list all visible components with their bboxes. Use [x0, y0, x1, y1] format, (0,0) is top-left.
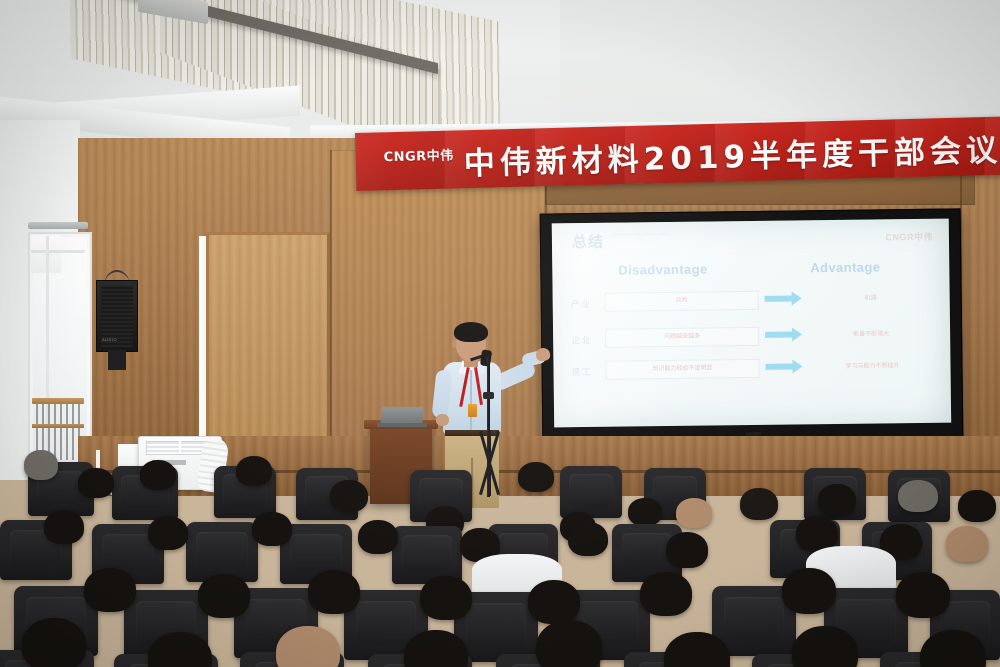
attendee-head: [628, 498, 662, 526]
attendee-head: [958, 490, 996, 522]
projection-screen: 总结 Summary of the half-year review CNGR中…: [540, 208, 964, 442]
slide-row-arrow-1: [765, 295, 793, 301]
attendee-head: [528, 580, 580, 624]
attendee-head: [568, 522, 608, 556]
seat: [392, 526, 462, 584]
attendee-head: [640, 572, 692, 616]
presenter-left-hand: [436, 414, 449, 426]
projection-screen-surface: 总结 Summary of the half-year review CNGR中…: [552, 219, 951, 428]
slide-title: 总结: [572, 231, 604, 252]
slide-row-disadvantage-2: 问题越来越多: [605, 327, 759, 348]
seat-cushion: [196, 532, 248, 569]
attendee-head: [198, 574, 250, 618]
screen-glare: [552, 219, 951, 428]
slide-row-label-1: 产业: [571, 297, 591, 310]
slide-row-disadvantage-3: 知识能力经验不足明显: [605, 359, 759, 380]
attendee-head: [358, 520, 398, 554]
attendee-head: [420, 576, 472, 620]
presenter-hair: [454, 322, 488, 342]
door-closer-arm: [28, 222, 88, 229]
attendee-head: [148, 516, 188, 550]
slide-row-arrow-2: [765, 331, 793, 337]
slide-row-label-3: 员工: [571, 365, 591, 378]
attendee-head: [44, 510, 84, 544]
seat-cushion: [402, 535, 452, 571]
seat-cushion: [622, 533, 672, 569]
attendee-head: [308, 570, 360, 614]
slide-row-advantage-2: 能量不断增大: [811, 328, 931, 338]
attendee-head: [140, 460, 176, 490]
attendee-head: [536, 620, 602, 667]
slide-row-label-2: 企业: [571, 333, 591, 346]
seat: [560, 466, 622, 518]
attendee-head: [24, 450, 58, 480]
slide-row-advantage-3: 学习与能力不断提升: [807, 360, 937, 371]
wall-mounted-speaker: AUDIO: [96, 280, 138, 352]
speaker-bracket: [108, 350, 126, 370]
banner-logo: CNGR中伟: [383, 145, 454, 166]
slide-column-header-advantage: Advantage: [810, 259, 880, 275]
speaker-brand-label: AUDIO: [102, 337, 117, 342]
seat-cushion: [466, 603, 526, 646]
seat-cushion: [356, 601, 416, 644]
seat-cushion: [290, 534, 342, 571]
attendee-head: [518, 462, 554, 492]
seat-cushion: [569, 474, 614, 506]
slide-row-advantage-1: 机遇: [811, 292, 931, 302]
seat: [186, 522, 258, 582]
slide-column-header-disadvantage: Disadvantage: [618, 262, 708, 278]
conference-photo-scene: AUDIO CNGR中伟 中伟新材料2019半年度干部会议 总结 Summary…: [0, 0, 1000, 667]
balcony-handrail-lower: [32, 424, 84, 428]
attendee-head: [252, 512, 292, 546]
banner-title: 中伟新材料2019半年度干部会议: [463, 125, 1000, 184]
slide-footer-logo: CNGR: [921, 410, 933, 415]
microphone-stand-clamp: [483, 392, 494, 399]
attendee-head: [946, 526, 988, 562]
presenter-ear: [452, 340, 457, 348]
slide-watermark-logo: CNGR中伟: [885, 230, 933, 244]
seat-cushion: [102, 534, 154, 571]
attendee-head: [276, 626, 340, 667]
attendee-head: [898, 480, 938, 512]
wood-seam-1: [330, 150, 332, 482]
slide-subtitle: Summary of the half-year review: [612, 230, 732, 237]
presenter-shirt-placket: [470, 370, 472, 432]
attendee-head: [818, 484, 856, 516]
attendee-head: [896, 572, 950, 618]
attendee-head: [84, 568, 136, 612]
audience-seating-area: [0, 450, 1000, 667]
attendee-head: [22, 618, 86, 667]
attendee-head: [666, 532, 708, 568]
presenter-badge: [468, 404, 477, 417]
attendee-head: [78, 468, 114, 498]
attendee-head: [236, 456, 272, 486]
slide-row-arrow-3: [765, 363, 793, 369]
attendee-head: [676, 498, 712, 528]
window-transom-bar: [31, 250, 85, 253]
attendee-head: [740, 488, 778, 520]
seat-cushion: [724, 597, 784, 640]
attendee-head: [330, 480, 368, 512]
slide-row-disadvantage-1: 风险: [605, 291, 759, 312]
attendee-head: [782, 568, 836, 614]
